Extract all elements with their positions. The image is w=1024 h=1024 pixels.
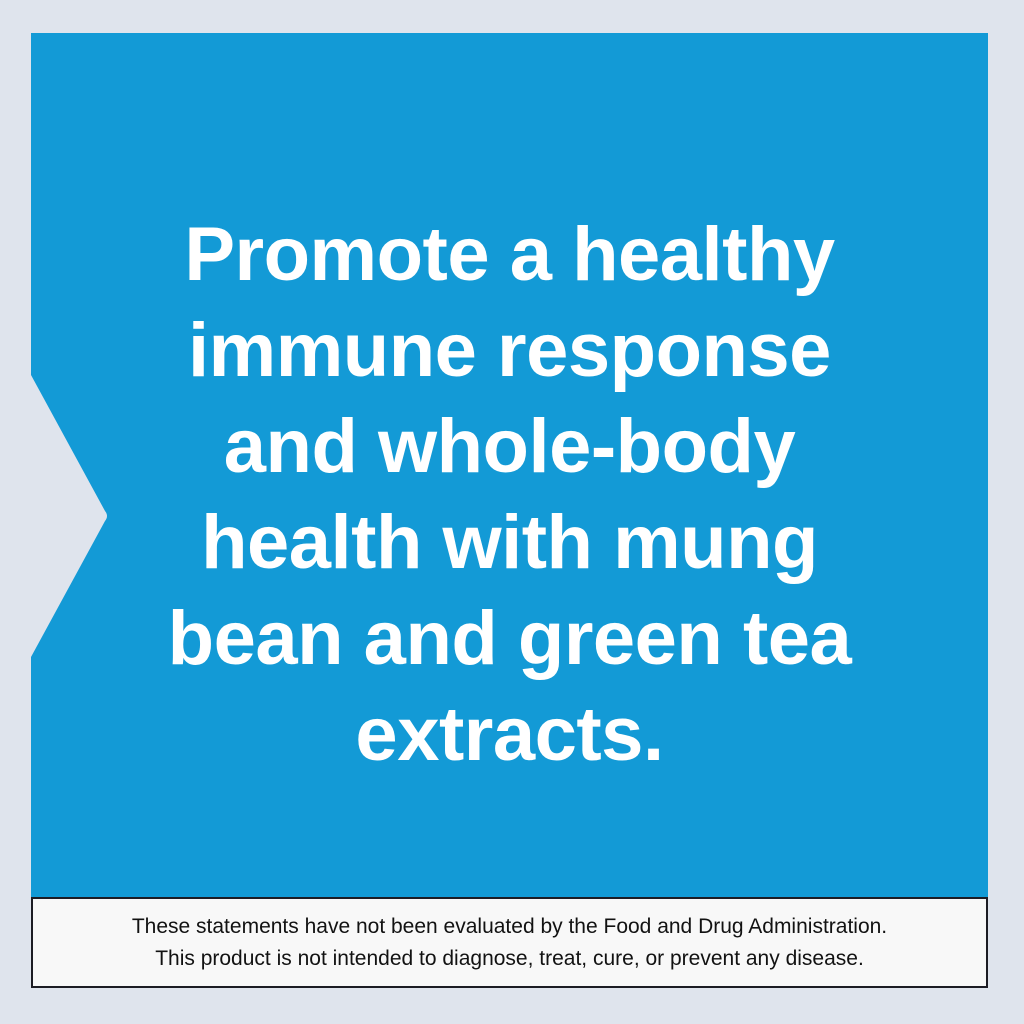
headline-line-2: immune response bbox=[31, 303, 988, 399]
headline-line-4: health with mung bbox=[31, 495, 988, 591]
promo-card-canvas: Promote a healthy immune response and wh… bbox=[0, 0, 1024, 1024]
headline-text: Promote a healthy immune response and wh… bbox=[31, 207, 988, 783]
headline-line-5: bean and green tea bbox=[31, 591, 988, 687]
disclaimer-line-1: These statements have not been evaluated… bbox=[132, 911, 887, 943]
headline-line-1: Promote a healthy bbox=[31, 207, 988, 303]
fda-disclaimer-box: These statements have not been evaluated… bbox=[31, 897, 988, 988]
headline-line-3: and whole-body bbox=[31, 399, 988, 495]
headline-line-6: extracts. bbox=[31, 687, 988, 783]
disclaimer-line-2: This product is not intended to diagnose… bbox=[155, 943, 864, 975]
blue-content-panel: Promote a healthy immune response and wh… bbox=[31, 33, 988, 897]
